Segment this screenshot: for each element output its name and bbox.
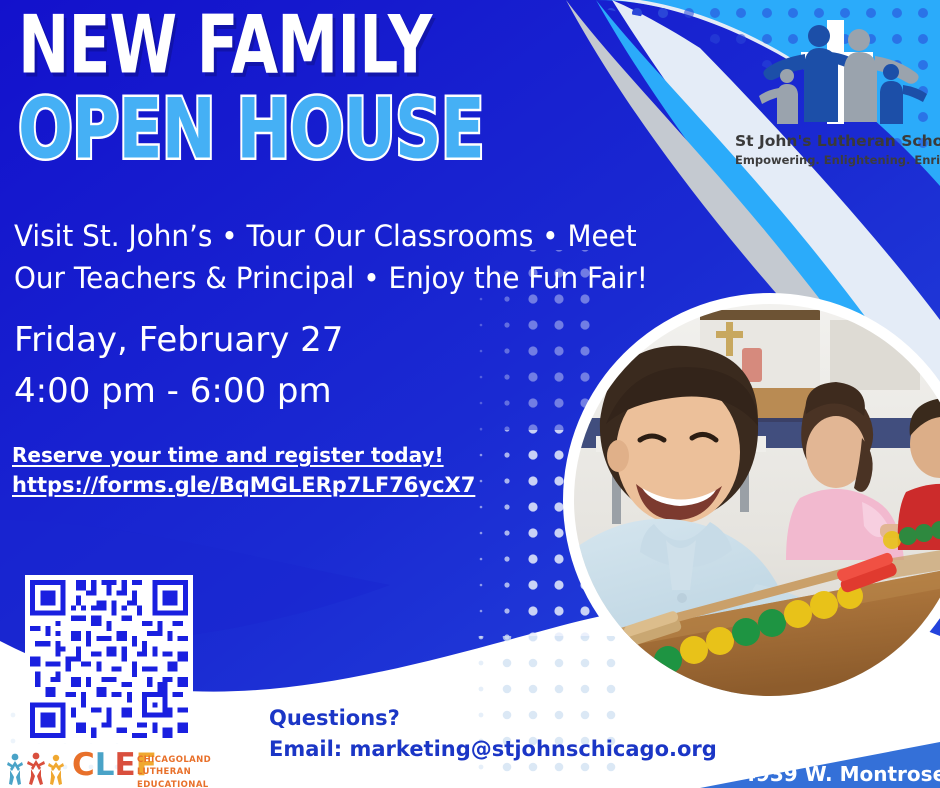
clef-subtitle-line-2: EDUCATIONAL FOUNDATION bbox=[137, 779, 238, 788]
contact-email[interactable]: Email: marketing@stjohnschicago.org bbox=[269, 737, 717, 761]
clef-subtitle-line-1: CHICAGOLAND LUTHERAN bbox=[137, 754, 238, 779]
clef-letter-c: C bbox=[72, 747, 95, 783]
event-date: Friday, February 27 bbox=[14, 323, 343, 357]
reserve-callout[interactable]: Reserve your time and register today! bbox=[12, 443, 444, 467]
poster-canvas: NEW FAMILY OPEN HOUSE Visit St. John’s •… bbox=[0, 0, 940, 788]
qr-code-icon bbox=[25, 575, 193, 743]
qr-code[interactable] bbox=[25, 575, 193, 743]
clef-letter-l: L bbox=[95, 747, 115, 783]
headline-line-1: NEW FAMILY bbox=[18, 8, 613, 84]
questions-label: Questions? bbox=[269, 706, 400, 730]
three-figures-cross-icon bbox=[735, 14, 940, 132]
clef-subtitle: CHICAGOLAND LUTHERAN EDUCATIONAL FOUNDAT… bbox=[137, 754, 238, 788]
event-time: 4:00 pm - 6:00 pm bbox=[14, 374, 332, 408]
clef-letter-e: E bbox=[115, 747, 136, 783]
clef-logo: CLEF CHICAGOLAND LUTHERAN EDUCATIONAL FO… bbox=[6, 748, 238, 788]
school-logo: St John's Lutheran School Empowering. En… bbox=[735, 14, 940, 164]
headline-line-2: OPEN HOUSE bbox=[18, 91, 645, 169]
event-description: Visit St. John’s • Tour Our Classrooms •… bbox=[14, 215, 692, 299]
school-name: St John's Lutheran School bbox=[735, 132, 940, 150]
three-jumping-figures-icon bbox=[6, 750, 66, 788]
registration-link[interactable]: https://forms.gle/BqMGLERp7LF76ycX7 bbox=[12, 473, 475, 497]
school-address: 4939 W. Montrose Ave. bbox=[742, 762, 940, 786]
photo-content bbox=[546, 304, 940, 721]
school-tagline: Empowering. Enlightening. Enriching. bbox=[735, 153, 940, 167]
headline-block: NEW FAMILY OPEN HOUSE bbox=[18, 8, 658, 153]
